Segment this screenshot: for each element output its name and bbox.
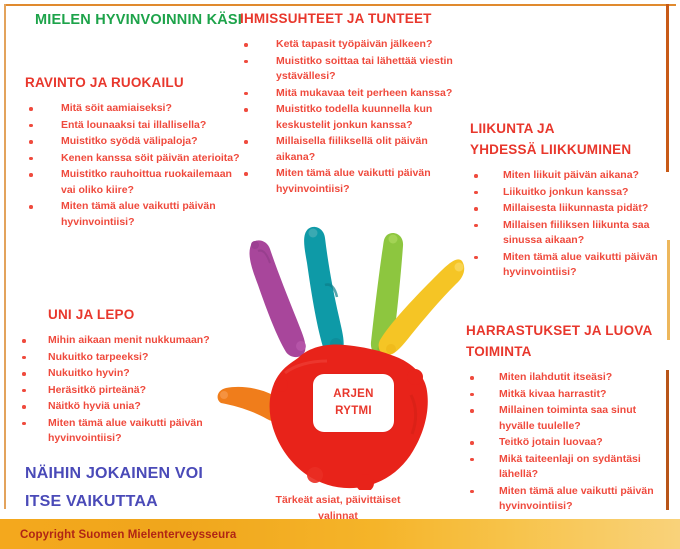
list-item: Nukuitko hyvin? — [18, 366, 243, 382]
section-uni: UNI JA LEPO Mihin aikaan menit nukkumaan… — [18, 304, 243, 448]
list-item: Näitkö hyviä unia? — [18, 399, 243, 415]
list-item: Ketä tapasit työpäivän jälkeen? — [240, 37, 465, 53]
list-item: Miten tämä alue vaikutti päivän hyvinvoi… — [240, 166, 465, 197]
blue-statement: NÄIHIN JOKAINEN VOI ITSE VAIKUTTAA — [25, 460, 203, 516]
section-ravinto: RAVINTO JA RUOKAILU Mitä söit aamiaiseks… — [25, 72, 240, 231]
list-item: Muistitko syödä välipaloja? — [25, 134, 240, 150]
list-item: Entä lounaaksi tai illallisella? — [25, 118, 240, 134]
list-item: Kenen kanssa söit päivän aterioita? — [25, 151, 240, 167]
list-item: Miten tämä alue vaikutti päivän hyvinvoi… — [466, 484, 671, 515]
arjen-rytmi-line2: RYTMI — [335, 403, 372, 420]
hand-finger-ring — [304, 227, 344, 357]
hand-caption-line1: Tärkeät asiat, päivittäiset — [258, 492, 418, 508]
list-item: Mitä söit aamiaiseksi? — [25, 101, 240, 117]
section-harrastukset: HARRASTUKSET JA LUOVA TOIMINTA Miten ila… — [466, 320, 671, 516]
list-item: Liikuitko jonkun kanssa? — [470, 185, 670, 201]
list-item: Mitä mukavaa teit perheen kanssa? — [240, 86, 465, 102]
section-title-harrastukset-line2: TOIMINTA — [466, 341, 671, 362]
frame-left-border — [4, 4, 6, 509]
list-item: Teitkö jotain luovaa? — [466, 435, 671, 451]
list-item: Miten ilahdutit itseäsi? — [466, 370, 671, 386]
arjen-rytmi-line1: ARJEN — [333, 386, 373, 403]
question-list-liikunta: Miten liikuit päivän aikana? Liikuitko j… — [470, 168, 670, 281]
list-item: Miten tämä alue vaikutti päivän hyvinvoi… — [470, 250, 670, 281]
list-item: Millaisen fiiliksen liikunta saa sinussa… — [470, 218, 670, 249]
list-item: Miten liikuit päivän aikana? — [470, 168, 670, 184]
list-item: Miten tämä alue vaikutti päivän hyvinvoi… — [18, 416, 243, 447]
list-item: Muistitko rauhoittua ruokailemaan vai ol… — [25, 167, 240, 198]
blue-statement-line2: ITSE VAIKUTTAA — [25, 488, 203, 516]
handprint-graphic — [215, 225, 465, 490]
section-ihmissuhteet: IHMISSUHTEET JA TUNTEET Ketä tapasit työ… — [240, 8, 465, 198]
section-title-liikunta-line2: YHDESSÄ LIIKKUMINEN — [470, 139, 670, 160]
blue-statement-line1: NÄIHIN JOKAINEN VOI — [25, 460, 203, 488]
section-title-ravinto: RAVINTO JA RUOKAILU — [25, 72, 240, 93]
section-liikunta: LIIKUNTA JA YHDESSÄ LIIKKUMINEN Miten li… — [470, 118, 670, 282]
list-item: Mihin aikaan menit nukkumaan? — [18, 333, 243, 349]
question-list-uni: Mihin aikaan menit nukkumaan? Nukuitko t… — [18, 333, 243, 447]
list-item: Muistitko soittaa tai lähettää viestin y… — [240, 54, 465, 85]
section-title-uni: UNI JA LEPO — [48, 304, 243, 325]
hand-finger-pinky — [250, 240, 306, 357]
list-item: Mitkä kivaa harrastit? — [466, 387, 671, 403]
list-item: Muistitko todella kuunnella kun keskuste… — [240, 102, 465, 133]
list-item: Millaisella fiiliksellä olit päivän aika… — [240, 134, 465, 165]
section-title-ihmissuhteet: IHMISSUHTEET JA TUNTEET — [240, 8, 465, 29]
page-title: MIELEN HYVINVOINNIN KÄSI — [35, 12, 242, 28]
frame-top-border — [4, 4, 676, 6]
list-item: Miten tämä alue vaikutti päivän hyvinvoi… — [25, 199, 240, 230]
list-item: Mikä taiteenlaji on sydäntäsi lähellä? — [466, 452, 671, 483]
question-list-ihmissuhteet: Ketä tapasit työpäivän jälkeen? Muistitk… — [240, 37, 465, 197]
list-item: Millaisesta liikunnasta pidät? — [470, 201, 670, 217]
list-item: Nukuitko tarpeeksi? — [18, 350, 243, 366]
list-item: Heräsitkö pirteänä? — [18, 383, 243, 399]
question-list-harrastukset: Miten ilahdutit itseäsi? Mitkä kivaa har… — [466, 370, 671, 515]
section-title-harrastukset-line1: HARRASTUKSET JA LUOVA — [466, 320, 671, 341]
copyright-notice: Copyright Suomen Mielenterveysseura — [20, 529, 236, 541]
question-list-ravinto: Mitä söit aamiaiseksi? Entä lounaaksi ta… — [25, 101, 240, 230]
infographic-page: MIELEN HYVINVOINNIN KÄSI IHMISSUHTEET JA… — [0, 0, 680, 549]
arjen-rytmi-label: ARJEN RYTMI — [313, 374, 394, 432]
list-item: Millainen toiminta saa sinut hyvälle tuu… — [466, 403, 671, 434]
section-title-liikunta-line1: LIIKUNTA JA — [470, 118, 670, 139]
